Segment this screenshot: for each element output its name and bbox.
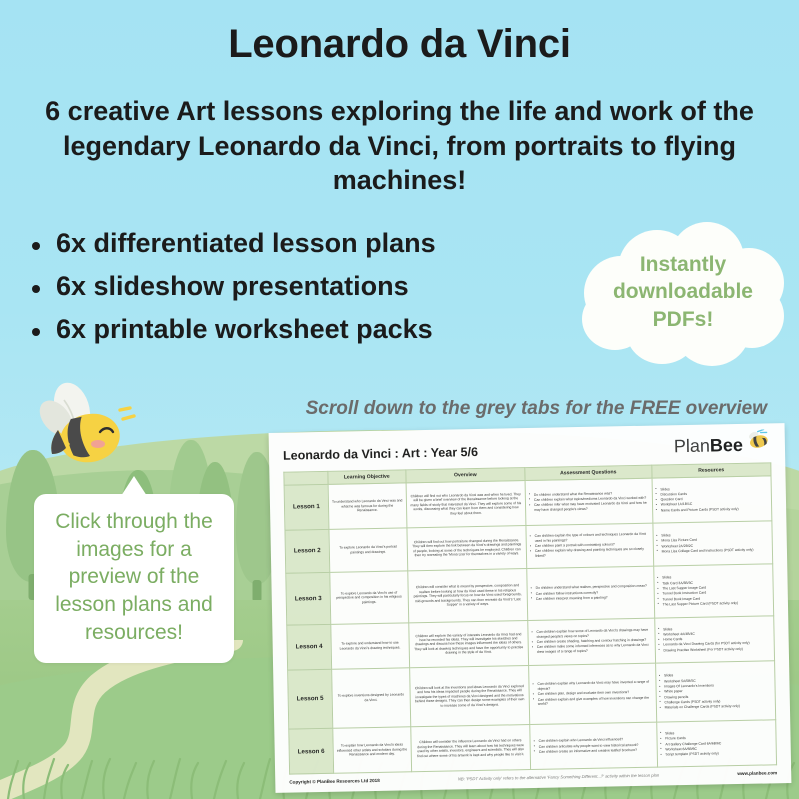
learning-objective-cell: To explore Leonardo da Vinci's use of pe… [330,571,409,625]
resource-item: Script template (PSDT activity only) [665,750,772,757]
resources-cell: SlidesTask Card 3A/3B/3CThe Last Supper … [653,564,773,618]
learning-objective-cell: To explore and understand how to use Leo… [331,623,410,669]
instantly-downloadable-cloud-badge: Instantly downloadable PDFs! [578,222,788,362]
assessment-questions-cell: Do children understand what the Renaissa… [525,478,652,525]
resources-cell: SlidesPicture CardsArt Gallery Challenge… [656,720,776,767]
table-row: Lesson 6To explain how Leonardo da Vinci… [289,720,777,774]
logo-bee-icon [743,435,771,457]
assessment-questions-cell: Do children understand what realism, per… [527,566,655,621]
overview-cell: Children will consider what is meant by … [407,568,527,622]
document-title: Leonardo da Vinci : Art : Year 5/6 [283,441,478,463]
list-item: 6x differentiated lesson plans [24,228,436,260]
logo-part-bee: Bee [710,435,743,456]
assessment-question-item: Can children make some informed inferenc… [537,643,652,655]
assessment-questions-cell: Can children explain the type of colours… [526,523,653,568]
page-subtitle: 6 creative Art lessons exploring the lif… [26,94,773,198]
table-row: Lesson 5To explore inventions designed b… [288,660,776,729]
click-through-speech-bubble[interactable]: Click through the images for a preview o… [34,494,234,663]
cloud-badge-text: Instantly downloadable PDFs! [578,222,788,362]
assessment-question-item: Can children explain and give examples o… [538,695,653,707]
learning-objective-cell: To explore inventions designed by Leonar… [331,667,410,728]
cloud-badge-line-1: Instantly [640,251,726,278]
learning-objective-cell: To explain how Leonardo da Vinci's ideas… [333,727,412,773]
assessment-question-item: Can children create an informative and c… [539,747,654,754]
assessment-question-item: Can children explain why drawing and pai… [535,547,650,559]
lesson-number-cell: Lesson 1 [284,484,329,530]
lesson-number-cell: Lesson 6 [289,729,334,775]
planbee-logo-text: PlanBee [674,436,743,455]
lesson-overview-document-preview[interactable]: Leonardo da Vinci : Art : Year 5/6 PlanB… [269,423,792,793]
resources-cell: SlidesDiscussion CardsQuestion CardWorks… [652,476,772,523]
planbee-logo: PlanBee [674,435,771,458]
cloud-badge-line-3: PDFs! [653,306,714,333]
resources-cell: SlidesMona Lisa Picture CardWorksheet 2A… [653,521,773,566]
lesson-overview-table: Learning Objective Overview Assessment Q… [283,462,777,774]
lesson-number-cell: Lesson 3 [286,572,331,625]
assessment-questions-cell: Can children explain why Leonardo da Vin… [529,663,657,725]
table-body: Lesson 1To understand who Leonardo da Vi… [284,476,776,774]
footer-note: NB: 'PSDT Activity only' refers to the a… [458,773,659,782]
scroll-hint-caption: Scroll down to the grey tabs for the FRE… [306,398,767,420]
footer-copyright: Copyright © PlanBee Resources Ltd 2018 [289,778,380,785]
table-row: Lesson 3To explore Leonardo da Vinci's u… [286,564,774,626]
list-item: 6x printable worksheet packs [24,314,436,346]
cloud-badge-line-2: downloadable [613,278,753,305]
overview-cell: Children will explore the variety of int… [408,620,528,667]
assessment-question-item: Can children interpret meaning from a pa… [536,595,651,602]
resource-item: Name Cards and Picture Cards (PSDT activ… [661,506,768,513]
resource-item: The Last Supper Picture Card (PSDT activ… [663,600,770,607]
overview-cell: Children will find out how portraiture c… [407,525,527,570]
resource-item: Drawing Practise Worksheet (For PSDT act… [663,646,770,653]
resource-item: Materials on Challenge Cards (PSDT activ… [665,704,772,711]
overview-cell: Children will look at the inventions and… [409,665,529,727]
resource-item: Mona Lisa Collage Card and Instructions … [662,547,769,554]
assessment-questions-cell: Can children explain who Leonardo da Vin… [530,722,657,769]
footer-website: www.planbee.com [737,770,777,776]
logo-part-plan: Plan [674,436,710,457]
bee-icon [28,382,140,478]
learning-objective-cell: To explore Leonardo da Vinci's portrait … [329,528,408,572]
document-header: Leonardo da Vinci : Art : Year 5/6 PlanB… [283,435,771,465]
lesson-number-cell: Lesson 4 [287,624,332,670]
resources-cell: SlidesWorksheet 5A/5B/5CImages Of Leonar… [655,660,775,722]
assessment-questions-cell: Can children explain how some of Leonard… [528,618,655,665]
feature-list: 6x differentiated lesson plans 6x slides… [24,228,436,357]
lesson-number-cell: Lesson 5 [288,669,333,730]
overview-cell: Children will find out who Leonardo da V… [406,481,526,528]
learning-objective-cell: To understand who Leonardo da Vinci was … [328,483,407,529]
document-page: Leonardo da Vinci : Art : Year 5/6 PlanB… [269,423,792,793]
column-header-blank [284,471,328,485]
overview-cell: Children will consider the influence Leo… [410,725,530,772]
resources-cell: SlidesWorksheet 4A/4B/4CHome CardsLeonar… [654,616,774,663]
assessment-question-item: Can children infer what may have motivat… [534,501,649,513]
lesson-number-cell: Lesson 2 [285,529,330,573]
page-title: Leonardo da Vinci [0,22,799,67]
speech-bubble-text: Click through the images for a preview o… [55,510,213,644]
list-item: 6x slideshow presentations [24,271,436,303]
